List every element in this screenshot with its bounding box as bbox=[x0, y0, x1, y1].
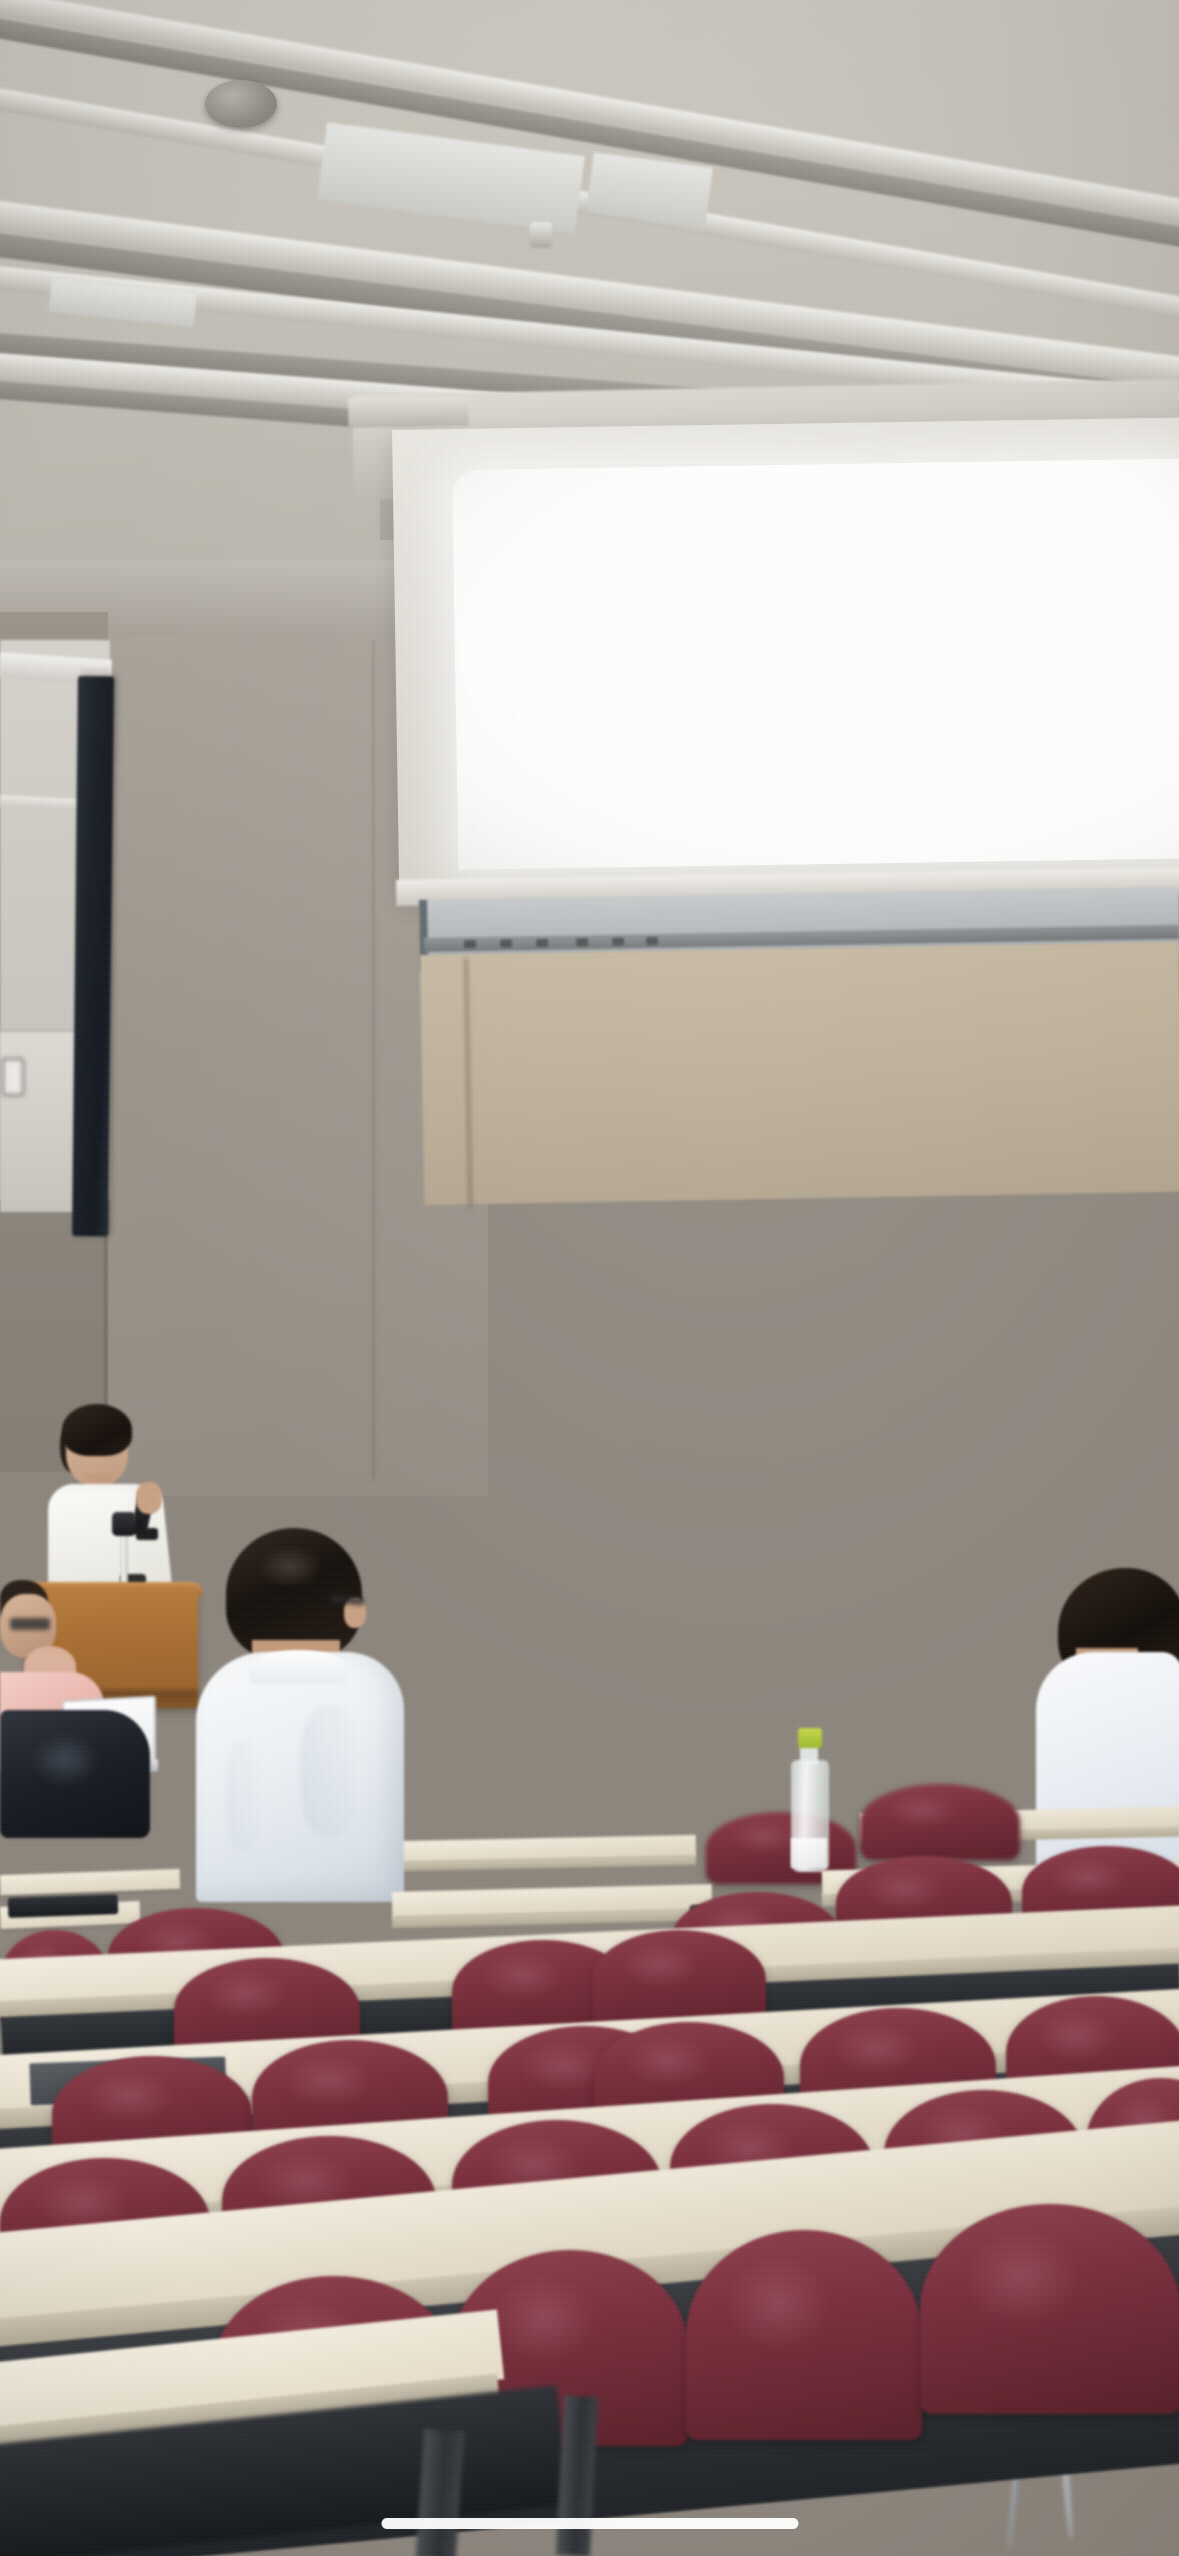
home-indicator[interactable] bbox=[381, 2518, 798, 2529]
presenter-hand bbox=[136, 1482, 162, 1514]
chair bbox=[686, 2230, 922, 2440]
glasses-icon bbox=[10, 1618, 50, 1630]
shirt-fold bbox=[226, 1740, 262, 1850]
bag-highlight bbox=[30, 1734, 100, 1786]
light-switch-plate bbox=[2, 1058, 24, 1096]
photo-viewport bbox=[0, 0, 1179, 2556]
attendee-center-hair-highlight bbox=[258, 1546, 322, 1588]
wall-seam bbox=[372, 640, 375, 1480]
screen-soffit-lip bbox=[348, 396, 469, 428]
wristwatch bbox=[136, 1528, 158, 1540]
smoke-detector-icon bbox=[205, 80, 277, 128]
water-bottle-cap bbox=[798, 1728, 822, 1748]
marker-icon bbox=[500, 939, 512, 947]
desk-row-far bbox=[0, 1869, 180, 1895]
marker-icon bbox=[646, 937, 658, 945]
desk-leg bbox=[416, 2429, 465, 2556]
marker-icon bbox=[464, 940, 476, 948]
water-bottle-neck bbox=[800, 1746, 818, 1764]
projection-screen bbox=[452, 458, 1179, 870]
desk-leg bbox=[556, 2395, 598, 2556]
marker-icon bbox=[612, 938, 624, 946]
tablet-on-desk bbox=[8, 1894, 119, 1918]
wall-wood-panel bbox=[420, 942, 1179, 1205]
attendee-center-collar bbox=[250, 1650, 346, 1684]
ceiling-sensor-icon bbox=[530, 222, 552, 248]
chair bbox=[860, 1784, 1020, 1860]
chair bbox=[920, 2204, 1179, 2414]
marker-icon bbox=[576, 938, 588, 946]
gooseneck-microphone-head bbox=[112, 1512, 136, 1536]
shirt-fold bbox=[300, 1706, 360, 1836]
water-bottle-label bbox=[791, 1838, 827, 1868]
presenter-hair bbox=[62, 1404, 132, 1456]
marker-icon bbox=[536, 939, 548, 947]
wall-speaker bbox=[72, 676, 114, 1236]
